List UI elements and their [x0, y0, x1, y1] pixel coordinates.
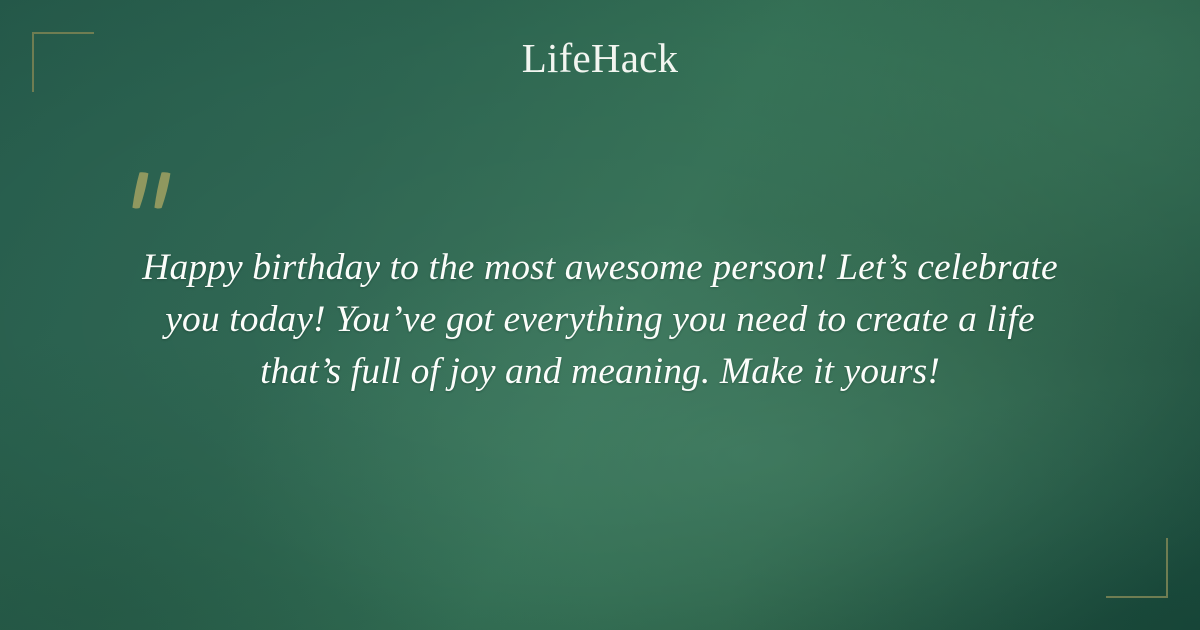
quote-line-3: that’s full of joy and meaning. Make it … [100, 346, 1100, 398]
brand-logo: LifeHack [0, 38, 1200, 79]
quote-card: LifeHack Happy birthday to the most awes… [0, 0, 1200, 630]
corner-bracket-bottom-right-icon [1106, 538, 1168, 598]
quote-section: Happy birthday to the most awesome perso… [100, 160, 1100, 398]
quote-line-1: Happy birthday to the most awesome perso… [100, 242, 1100, 294]
brand-wordmark: LifeHack [522, 38, 678, 79]
quote-text: Happy birthday to the most awesome perso… [100, 160, 1100, 398]
quote-line-2: you today! You’ve got everything you nee… [100, 294, 1100, 346]
double-quote-icon [129, 170, 185, 222]
